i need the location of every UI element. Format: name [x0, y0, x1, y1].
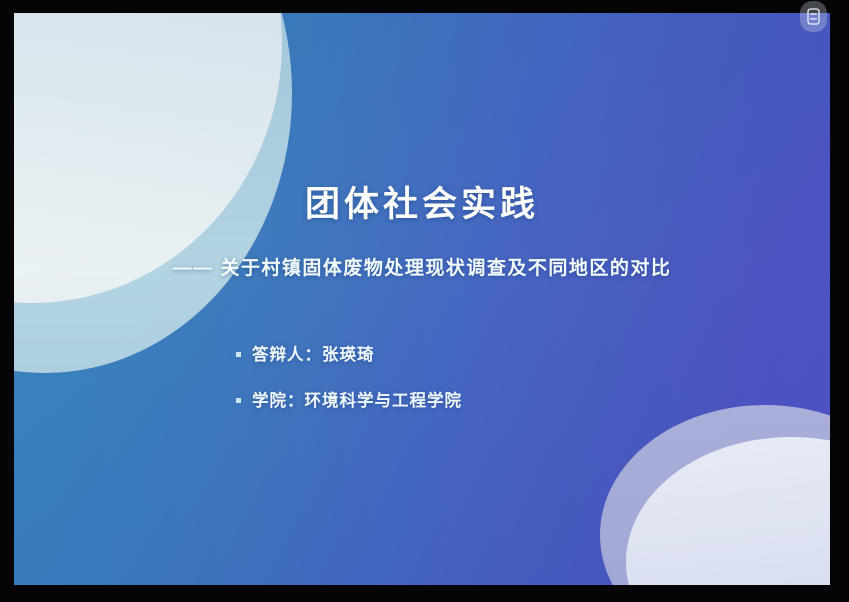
square-bullet-icon	[236, 352, 241, 357]
slide-bullet-list: 答辩人：张瑛琦 学院：环境科学与工程学院	[236, 341, 656, 433]
presentation-slide[interactable]: 团体社会实践 —— 关于村镇固体废物处理现状调查及不同地区的对比 答辩人：张瑛琦…	[14, 13, 830, 585]
document-icon-button[interactable]	[800, 1, 827, 32]
list-item-label: 答辩人：张瑛琦	[252, 341, 375, 365]
slide-subtitle: —— 关于村镇固体废物处理现状调查及不同地区的对比	[14, 253, 830, 280]
list-item-label: 学院：环境科学与工程学院	[252, 387, 462, 411]
slide-text-layer: 团体社会实践 —— 关于村镇固体废物处理现状调查及不同地区的对比 答辩人：张瑛琦…	[14, 13, 830, 585]
list-item: 学院：环境科学与工程学院	[236, 387, 656, 411]
slide-title: 团体社会实践	[14, 185, 830, 225]
square-bullet-icon	[236, 398, 241, 403]
video-viewport: 团体社会实践 —— 关于村镇固体废物处理现状调查及不同地区的对比 答辩人：张瑛琦…	[0, 0, 849, 602]
document-icon	[807, 8, 820, 25]
list-item: 答辩人：张瑛琦	[236, 341, 656, 365]
